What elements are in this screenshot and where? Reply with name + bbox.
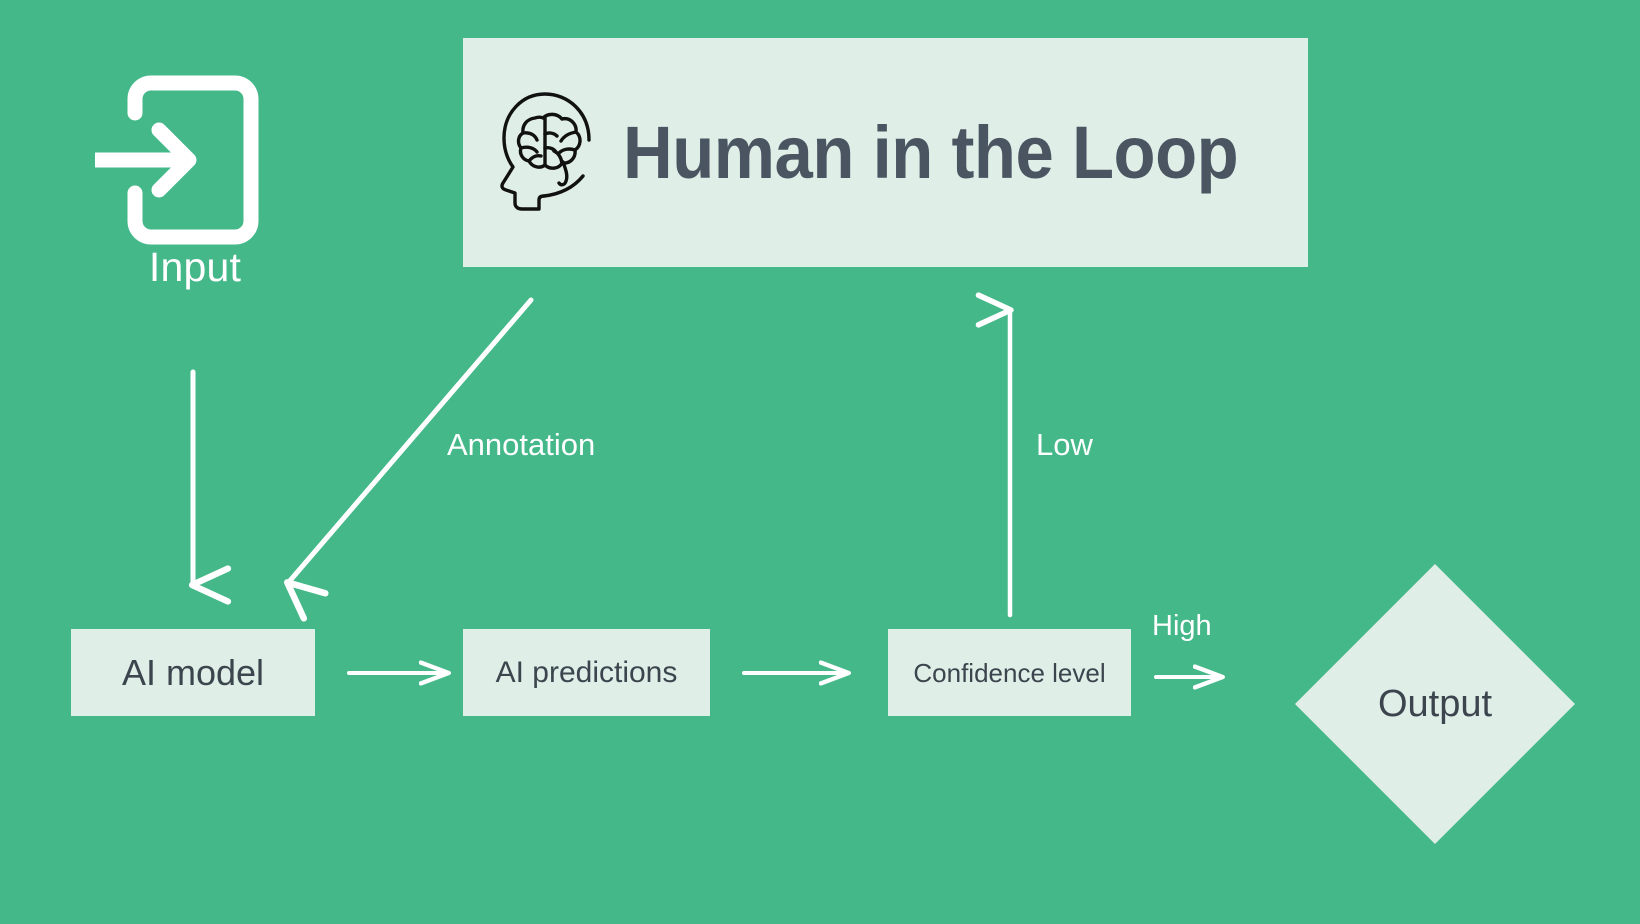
input-label: Input [95,247,295,288]
node-confidence-level: Confidence level [888,629,1131,716]
human-in-the-loop-banner: Human in the Loop [463,38,1308,267]
output-label: Output [1295,564,1575,844]
login-arrow-icon [95,75,295,245]
edge-label-low: Low [1036,429,1093,460]
head-brain-icon [491,88,601,213]
edge-label-annotation: Annotation [447,429,595,460]
node-ai-model: AI model [71,629,315,716]
node-ai-predictions: AI predictions [463,629,710,716]
input-node: Input [95,75,295,305]
banner-title: Human in the Loop [623,116,1238,190]
node-output: Output [1295,564,1575,844]
diagram-canvas: Input [0,0,1640,924]
edge-label-high: High [1152,612,1212,641]
